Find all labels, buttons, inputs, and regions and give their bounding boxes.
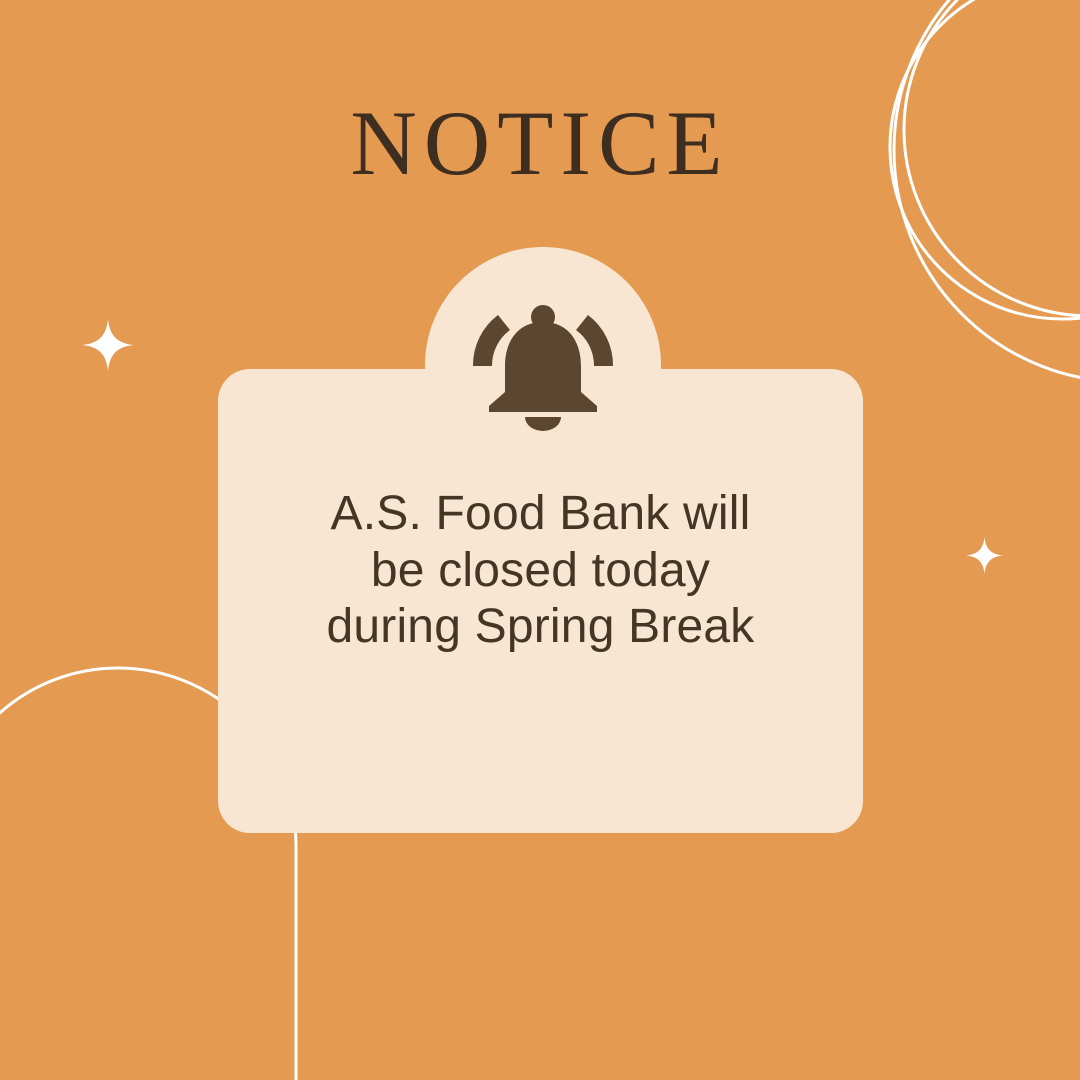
notice-poster: NOTICE A.S. Food Bank will be closed tod… [0, 0, 1080, 1080]
notification-card: A.S. Food Bank will be closed today duri… [218, 369, 863, 833]
bell-icon [462, 300, 624, 432]
notice-message-line-3: during Spring Break [218, 599, 863, 656]
notice-message-line-1: A.S. Food Bank will [218, 486, 863, 543]
notice-message-line-2: be closed today [218, 543, 863, 600]
sparkle-large-icon [82, 319, 134, 371]
page-title: NOTICE [0, 95, 1080, 192]
sparkle-small-icon [966, 537, 1003, 574]
notice-message: A.S. Food Bank will be closed today duri… [218, 486, 863, 656]
